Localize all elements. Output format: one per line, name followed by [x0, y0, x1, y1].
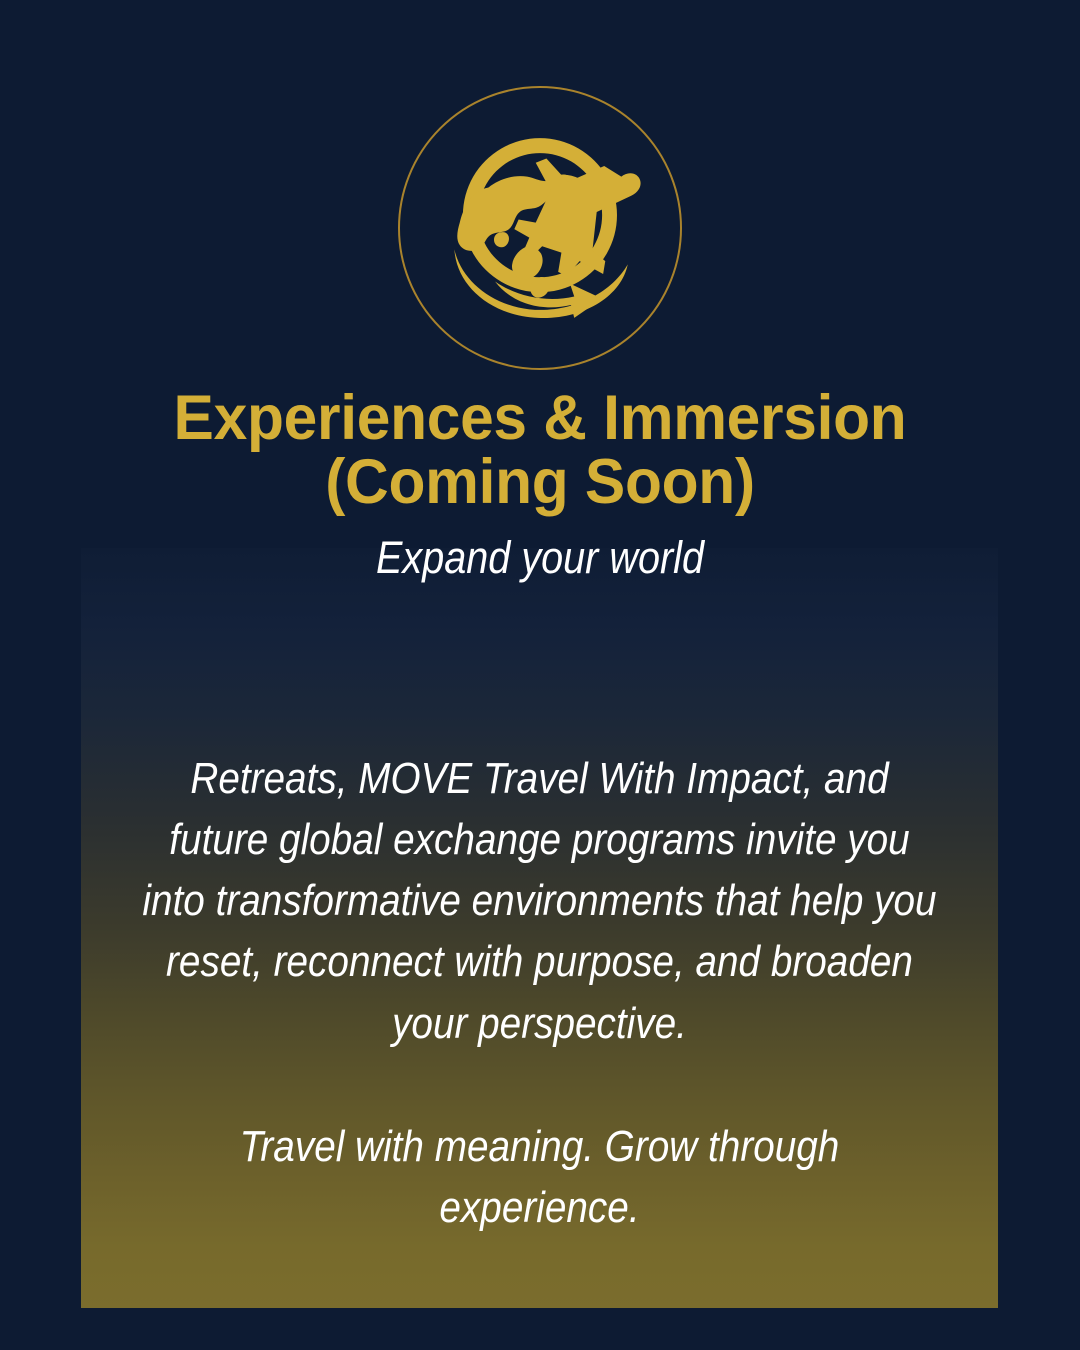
body-paragraph-1: Retreats, MOVE Travel With Impact, and f…: [136, 748, 943, 1054]
page-title: Experiences & Immersion (Coming Soon): [22, 386, 1059, 515]
body-paragraph-2: Travel with meaning. Grow through experi…: [136, 1116, 943, 1238]
page-subtitle: Expand your world: [65, 533, 1015, 583]
logo-container: [0, 84, 1080, 372]
body-copy-block: Retreats, MOVE Travel With Impact, and f…: [81, 748, 998, 1238]
logo-ring-outline: [398, 86, 682, 370]
page-title-line-2: (Coming Soon): [22, 450, 1059, 514]
heading-block: Experiences & Immersion (Coming Soon) Ex…: [0, 386, 1080, 582]
page-title-line-1: Experiences & Immersion: [22, 386, 1059, 450]
globe-airplane-icon: [433, 121, 647, 335]
promo-card: Experiences & Immersion (Coming Soon) Ex…: [0, 0, 1080, 1350]
